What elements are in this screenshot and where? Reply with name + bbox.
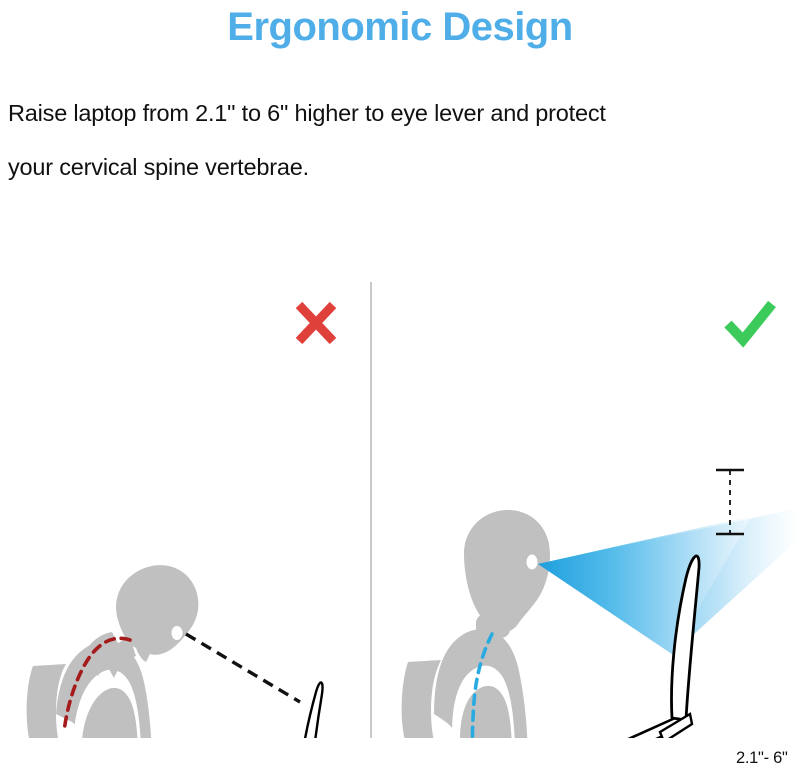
sight-line-dashed — [186, 634, 300, 702]
red-x-icon — [292, 298, 340, 348]
height-measurement-label: 2.1"- 6" — [736, 749, 788, 768]
green-check-icon — [722, 298, 778, 348]
description-line-1: Raise laptop from 2.1" to 6" higher to e… — [8, 100, 606, 126]
figure-eye — [172, 626, 183, 640]
figure-eye — [527, 555, 538, 570]
product-infographic: Ergonomic Design Raise laptop from 2.1" … — [0, 0, 800, 738]
description-line-2: your cervical spine vertebrae. — [8, 140, 792, 194]
laptop-screen — [299, 682, 323, 738]
figure-head — [464, 510, 550, 638]
page-title: Ergonomic Design — [0, 2, 800, 52]
comparison-stage: 2.1"- 6" — [0, 262, 800, 738]
description-text: Raise laptop from 2.1" to 6" higher to e… — [8, 86, 792, 194]
